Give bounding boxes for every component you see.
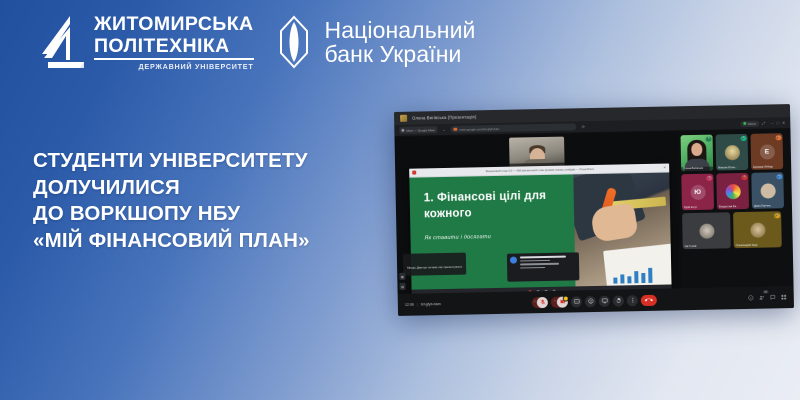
nbu-line-1: Національний [325, 18, 476, 42]
address-bar[interactable]: meet.google.com/txf-gfyb-bam [451, 123, 577, 133]
slide-subtitle: Як ставити і досягати [424, 233, 568, 242]
app-icon [400, 115, 407, 122]
camera-alert-badge [563, 295, 569, 301]
mic-status-icon: 🎤 [706, 136, 712, 142]
participant-name: Олена Вигівська [683, 166, 705, 169]
camera-off-button[interactable]: ⌃ [551, 296, 568, 307]
participant-tile[interactable]: Е 🎤 Едуарда Лебедь [751, 133, 784, 170]
participant-tile[interactable]: Ю 🎤 Юрій Когут [681, 174, 714, 211]
address-bar-value: meet.google.com/txf-gfyb-bam [459, 126, 500, 131]
people-count: 10 [763, 291, 769, 294]
logo-row: ЖИТОМИРСЬКА ПОЛІТЕХНІКА ДЕРЖАВНИЙ УНІВЕР… [40, 14, 475, 70]
nbu-wordmark: Національний банк України [325, 18, 476, 67]
secondary-controls: 10 [748, 294, 787, 301]
chevron-up-icon[interactable]: ⌃ [553, 300, 556, 304]
headline-line-4: «МІЙ ФІНАНСОВИЙ ПЛАН» [33, 228, 310, 255]
nbu-mark-icon [276, 15, 312, 69]
meeting-details-button[interactable] [748, 295, 754, 301]
site-favicon-icon [454, 127, 458, 131]
powerpoint-icon [412, 171, 416, 175]
zp-line-1: ЖИТОМИРСЬКА [94, 15, 254, 35]
participant-avatar [750, 222, 765, 237]
headline-line-1: СТУДЕНТИ УНІВЕРСИТЕТУ [33, 148, 310, 175]
headline: СТУДЕНТИ УНІВЕРСИТЕТУ ДОЛУЧИЛИСЯ ДО ВОРК… [33, 148, 310, 255]
presentation-close-button[interactable]: ✕ [663, 166, 666, 170]
recording-dot-icon [743, 122, 746, 125]
participant-face [691, 143, 702, 156]
people-button[interactable]: 10 [759, 295, 765, 301]
zp-line-3: ДЕРЖАВНИЙ УНІВЕРСИТЕТ [94, 63, 254, 70]
slide-photo [573, 172, 671, 286]
participant-tile[interactable]: 🎤 Олександрій Заур [733, 211, 782, 248]
captions-button[interactable] [571, 296, 582, 307]
maximize-button[interactable]: □ [776, 120, 779, 125]
tab-label: Meet — Google Meet [406, 128, 435, 133]
recording-status-label: Запис [748, 121, 756, 125]
participant-avatar: Е [759, 144, 774, 159]
chrome-spacer [590, 124, 735, 127]
mic-status-icon: 🎤 [776, 174, 782, 180]
footer-dot-3 [544, 290, 547, 293]
participants-rail: 🎤 Олена Вигівська 🎤 Максим Юхно... Е 🎤 Е… [678, 129, 793, 288]
mini-chip-1[interactable]: ▦ [399, 273, 405, 280]
mic-status-icon: 🎤 [741, 135, 747, 141]
participant-avatar [760, 183, 775, 198]
participant-avatar [699, 223, 714, 238]
participant-tile[interactable]: 🎤 Олена Вигівська [681, 135, 714, 172]
meeting-info-separator: | [417, 303, 418, 307]
microphone-off-button[interactable]: ⌃ [531, 296, 548, 307]
presentation-stage: Фінансовий план 2.0 — Мій фінансовий пла… [394, 131, 681, 294]
nbu-line-2: банк України [325, 42, 476, 66]
notification-lines [520, 255, 576, 278]
chrome-right-group: Запис ⤢ – □ ✕ [740, 120, 786, 127]
present-screen-button[interactable] [599, 295, 610, 306]
participant-name: Нік Ті-ісНі [685, 244, 723, 248]
chevron-up-icon[interactable]: ⌃ [533, 300, 536, 304]
raise-hand-button[interactable] [613, 295, 624, 306]
window-buttons: – □ ✕ [771, 120, 785, 125]
recording-status-pill[interactable]: Запис [740, 120, 759, 126]
mic-status-icon: 🎤 [741, 174, 747, 180]
promo-banner: ЖИТОМИРСЬКА ПОЛІТЕХНІКА ДЕРЖАВНИЙ УНІВЕР… [0, 0, 800, 400]
stage-mini-rail: ▦ ▤ [399, 273, 405, 290]
participant-name: Олександрій Заур [736, 243, 774, 247]
photo-chart-bars [613, 268, 652, 284]
meet-body: Фінансовий план 2.0 — Мій фінансовий пла… [394, 129, 793, 294]
participant-avatar [724, 145, 739, 160]
headline-line-3: ДО ВОРКШОПУ НБУ [33, 201, 310, 228]
meeting-code[interactable]: txf-gfyb-bam [421, 302, 441, 306]
presenting-caption-text: Міндіс Дмитро почав(-ла) презентувати [407, 265, 462, 270]
presenter-notification-card [507, 252, 580, 281]
window-title: Олена Вигівська (Презентація) [412, 114, 476, 120]
tab-favicon-icon [401, 129, 404, 132]
mic-off-icon[interactable] [537, 296, 548, 307]
nbu-logo: Національний банк України [276, 15, 476, 69]
slide-title: 1. Фінансові цілі для кожного [424, 189, 569, 223]
participant-avatar: Ю [690, 184, 705, 199]
activities-button[interactable] [781, 294, 787, 300]
mini-chip-2[interactable]: ▤ [399, 283, 405, 290]
notification-avatar [510, 257, 517, 264]
presenting-caption: Міндіс Дмитро почав(-ла) презентувати [403, 253, 466, 276]
footer-dot-4 [552, 290, 555, 293]
participant-tile[interactable]: 🎤 Максим Юхно... [716, 134, 749, 171]
footer-dot-1 [528, 290, 531, 293]
expand-icon[interactable]: ⤢ [762, 121, 765, 126]
meeting-info-group: 12:06 | txf-gfyb-bam [405, 302, 441, 307]
meeting-time: 12:06 [405, 303, 414, 307]
zhytomyr-polytechnic-mark-icon [40, 14, 88, 70]
mic-status-icon: 🎤 [776, 135, 782, 141]
chat-button[interactable] [770, 294, 776, 300]
participant-name: Едуарда Лебедь [753, 165, 775, 168]
participant-avatar [725, 184, 740, 199]
browser-tab[interactable]: Meet — Google Meet [399, 126, 437, 134]
footer-dot-2 [536, 290, 539, 293]
zp-line-2: ПОЛІТЕХНІКА [94, 37, 254, 61]
participant-name: Діана Панчен... [754, 204, 776, 207]
self-view-tile[interactable] [509, 137, 565, 169]
participant-tile[interactable]: 🎤 Владислав Ба... [716, 173, 749, 210]
zhytomyr-polytechnic-logo: ЖИТОМИРСЬКА ПОЛІТЕХНІКА ДЕРЖАВНИЙ УНІВЕР… [40, 14, 254, 70]
participant-tile[interactable]: 🎤 Діана Панчен... [751, 172, 784, 209]
minimize-button[interactable]: – [771, 120, 773, 125]
mic-status-icon: 🎤 [774, 213, 780, 219]
mic-status-icon: 🎤 [706, 175, 712, 181]
meet-window: Олена Вигівська (Презентація) Meet — Goo… [394, 104, 794, 316]
leave-call-button[interactable] [641, 294, 657, 305]
refresh-icon[interactable]: ⟳ [582, 124, 585, 129]
participant-name: Юрій Когут [684, 205, 706, 208]
participant-name: Максим Юхно... [718, 166, 740, 169]
zhytomyr-polytechnic-wordmark: ЖИТОМИРСЬКА ПОЛІТЕХНІКА ДЕРЖАВНИЙ УНІВЕР… [94, 15, 254, 70]
participant-name: Владислав Ба... [719, 205, 741, 208]
camera-off-icon[interactable] [557, 296, 568, 307]
headline-line-2: ДОЛУЧИЛИСЯ [33, 175, 310, 202]
close-button[interactable]: ✕ [782, 120, 785, 125]
emoji-button[interactable] [585, 295, 596, 306]
more-options-button[interactable] [627, 295, 638, 306]
participant-tile[interactable]: Нік Ті-ісНі [682, 212, 731, 249]
chevron-down-icon[interactable]: ⌄ [442, 127, 445, 132]
